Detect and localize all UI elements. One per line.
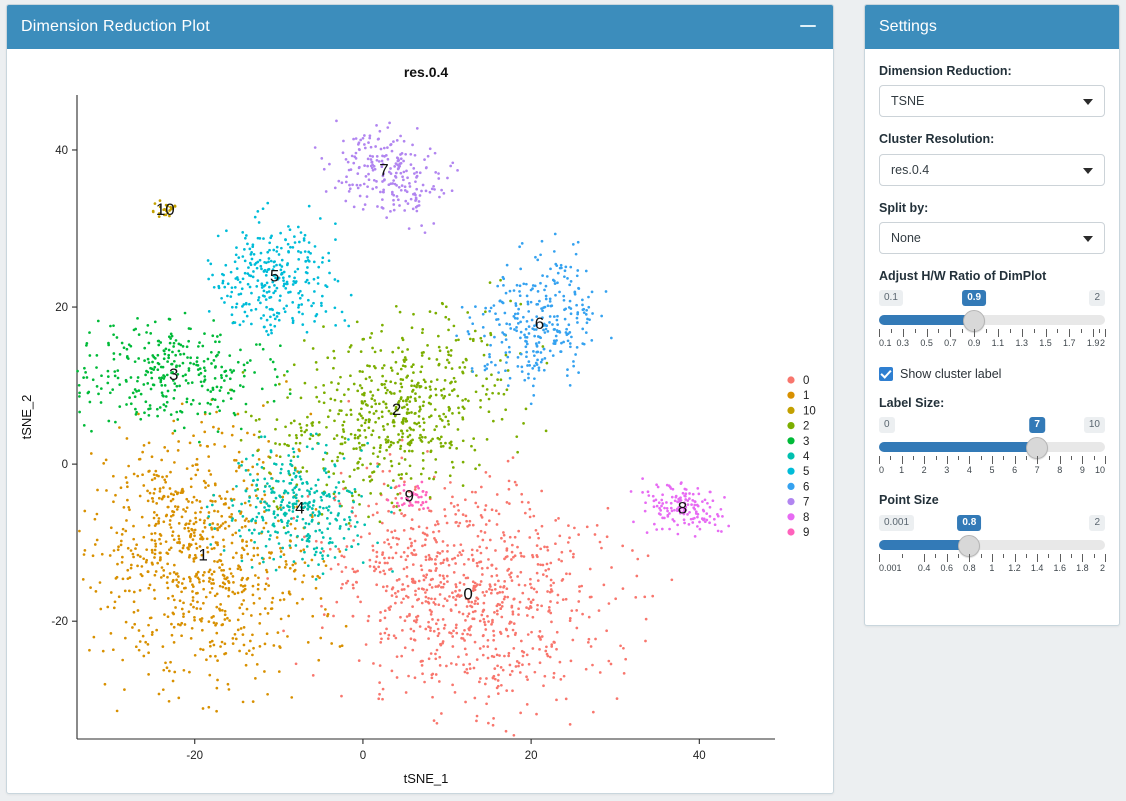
svg-text:1: 1 xyxy=(198,545,207,564)
show-cluster-label-text: Show cluster label xyxy=(900,367,1001,381)
svg-text:7: 7 xyxy=(379,161,388,180)
label-size-slider-track[interactable] xyxy=(879,439,1105,455)
minimize-icon[interactable] xyxy=(797,15,819,37)
hw-ratio-tickmarks xyxy=(879,329,1105,337)
svg-text:-20: -20 xyxy=(186,750,203,762)
hw-ratio-min-label: 0.1 xyxy=(879,290,903,306)
svg-text:9: 9 xyxy=(404,487,413,506)
settings-panel-header: Settings xyxy=(865,5,1119,49)
dimension-reduction-select[interactable]: TSNE xyxy=(879,85,1105,117)
cluster-resolution-select[interactable]: res.0.4 xyxy=(879,154,1105,186)
settings-panel-body: Dimension Reduction: TSNE Cluster Resolu… xyxy=(865,49,1119,586)
point-size-slider-head: 0.001 0.8 2 xyxy=(879,515,1105,533)
split-by-select[interactable]: None xyxy=(879,222,1105,254)
label-size-slider-group: Label Size: 0 7 10 012345678910 xyxy=(879,395,1105,478)
hw-ratio-max-label: 2 xyxy=(1089,290,1105,306)
svg-text:2: 2 xyxy=(803,421,809,433)
label-size-min-label: 0 xyxy=(879,417,895,433)
svg-text:8: 8 xyxy=(678,498,687,517)
hw-ratio-slider-track[interactable] xyxy=(879,312,1105,328)
svg-text:5: 5 xyxy=(803,466,809,478)
point-size-ticklabels: 0.0010.40.60.811.21.41.61.82 xyxy=(879,563,1105,576)
plot-panel-header: Dimension Reduction Plot xyxy=(7,5,833,49)
cluster-resolution-label: Cluster Resolution: xyxy=(879,131,1105,147)
point-size-slider-group: Point Size 0.001 0.8 2 0.0010.40.60.811.… xyxy=(879,492,1105,575)
svg-text:1: 1 xyxy=(803,390,809,402)
svg-text:5: 5 xyxy=(270,267,279,286)
svg-text:2: 2 xyxy=(392,400,401,419)
dimension-reduction-value: TSNE xyxy=(891,94,924,108)
split-by-value: None xyxy=(891,231,921,245)
svg-text:10: 10 xyxy=(803,405,816,417)
dimension-reduction-plot-panel: Dimension Reduction Plot res.0.4-2002040… xyxy=(6,4,834,794)
settings-panel-title: Settings xyxy=(879,18,937,36)
label-size-max-label: 10 xyxy=(1084,417,1105,433)
show-cluster-label-checkbox[interactable] xyxy=(879,367,893,381)
svg-text:10: 10 xyxy=(156,200,175,219)
svg-text:tSNE_2: tSNE_2 xyxy=(19,395,34,440)
split-by-label: Split by: xyxy=(879,200,1105,216)
label-size-slider-head: 0 7 10 xyxy=(879,417,1105,435)
svg-text:7: 7 xyxy=(803,497,809,509)
point-size-current-value: 0.8 xyxy=(957,515,981,531)
svg-text:40: 40 xyxy=(55,145,68,157)
chevron-down-icon xyxy=(1083,236,1093,242)
chevron-down-icon xyxy=(1083,99,1093,105)
svg-text:4: 4 xyxy=(295,498,304,517)
svg-text:tSNE_1: tSNE_1 xyxy=(404,771,449,786)
label-size-track-fill xyxy=(879,442,1037,452)
svg-text:8: 8 xyxy=(803,512,809,524)
plot-panel-title: Dimension Reduction Plot xyxy=(21,18,210,36)
svg-text:9: 9 xyxy=(803,527,809,539)
chevron-down-icon xyxy=(1083,168,1093,174)
svg-text:0: 0 xyxy=(360,750,366,762)
svg-text:0: 0 xyxy=(62,459,68,471)
svg-text:6: 6 xyxy=(535,314,544,333)
point-size-label: Point Size xyxy=(879,492,1105,508)
label-size-tickmarks xyxy=(879,456,1105,464)
hw-ratio-ticklabels: 0.10.30.50.70.91.11.31.51.71.92 xyxy=(879,338,1105,351)
label-size-current-value: 7 xyxy=(1029,417,1045,433)
svg-text:4: 4 xyxy=(803,451,810,463)
hw-ratio-track-fill xyxy=(879,315,974,325)
app-root: Dimension Reduction Plot res.0.4-2002040… xyxy=(0,0,1126,801)
hw-ratio-current-value: 0.9 xyxy=(962,290,986,306)
point-size-slider-track[interactable] xyxy=(879,537,1105,553)
hw-ratio-slider-head: 0.1 0.9 2 xyxy=(879,290,1105,308)
dimension-reduction-label: Dimension Reduction: xyxy=(879,63,1105,79)
svg-text:20: 20 xyxy=(55,302,68,314)
show-cluster-label-row[interactable]: Show cluster label xyxy=(879,367,1105,381)
svg-text:3: 3 xyxy=(169,365,178,384)
point-size-max-label: 2 xyxy=(1089,515,1105,531)
dimplot-chart: res.0.4-2002040-2002040tSNE_1tSNE_201102… xyxy=(7,49,835,793)
svg-text:-20: -20 xyxy=(51,616,68,628)
svg-text:40: 40 xyxy=(693,750,706,762)
svg-text:0: 0 xyxy=(463,585,472,604)
hw-ratio-label: Adjust H/W Ratio of DimPlot xyxy=(879,268,1105,284)
point-size-track-fill xyxy=(879,540,969,550)
point-size-tickmarks xyxy=(879,554,1105,562)
svg-text:6: 6 xyxy=(803,481,809,493)
cluster-resolution-value: res.0.4 xyxy=(891,163,929,177)
svg-text:3: 3 xyxy=(803,436,809,448)
label-size-ticklabels: 012345678910 xyxy=(879,465,1105,478)
point-size-min-label: 0.001 xyxy=(879,515,914,531)
svg-text:20: 20 xyxy=(525,750,538,762)
label-size-label: Label Size: xyxy=(879,395,1105,411)
svg-text:0: 0 xyxy=(803,375,809,387)
svg-text:res.0.4: res.0.4 xyxy=(404,64,449,80)
scatter-plot-svg: res.0.4-2002040-2002040tSNE_1tSNE_201102… xyxy=(7,49,835,793)
hw-ratio-slider-group: Adjust H/W Ratio of DimPlot 0.1 0.9 2 0.… xyxy=(879,268,1105,351)
settings-panel: Settings Dimension Reduction: TSNE Clust… xyxy=(864,4,1120,626)
